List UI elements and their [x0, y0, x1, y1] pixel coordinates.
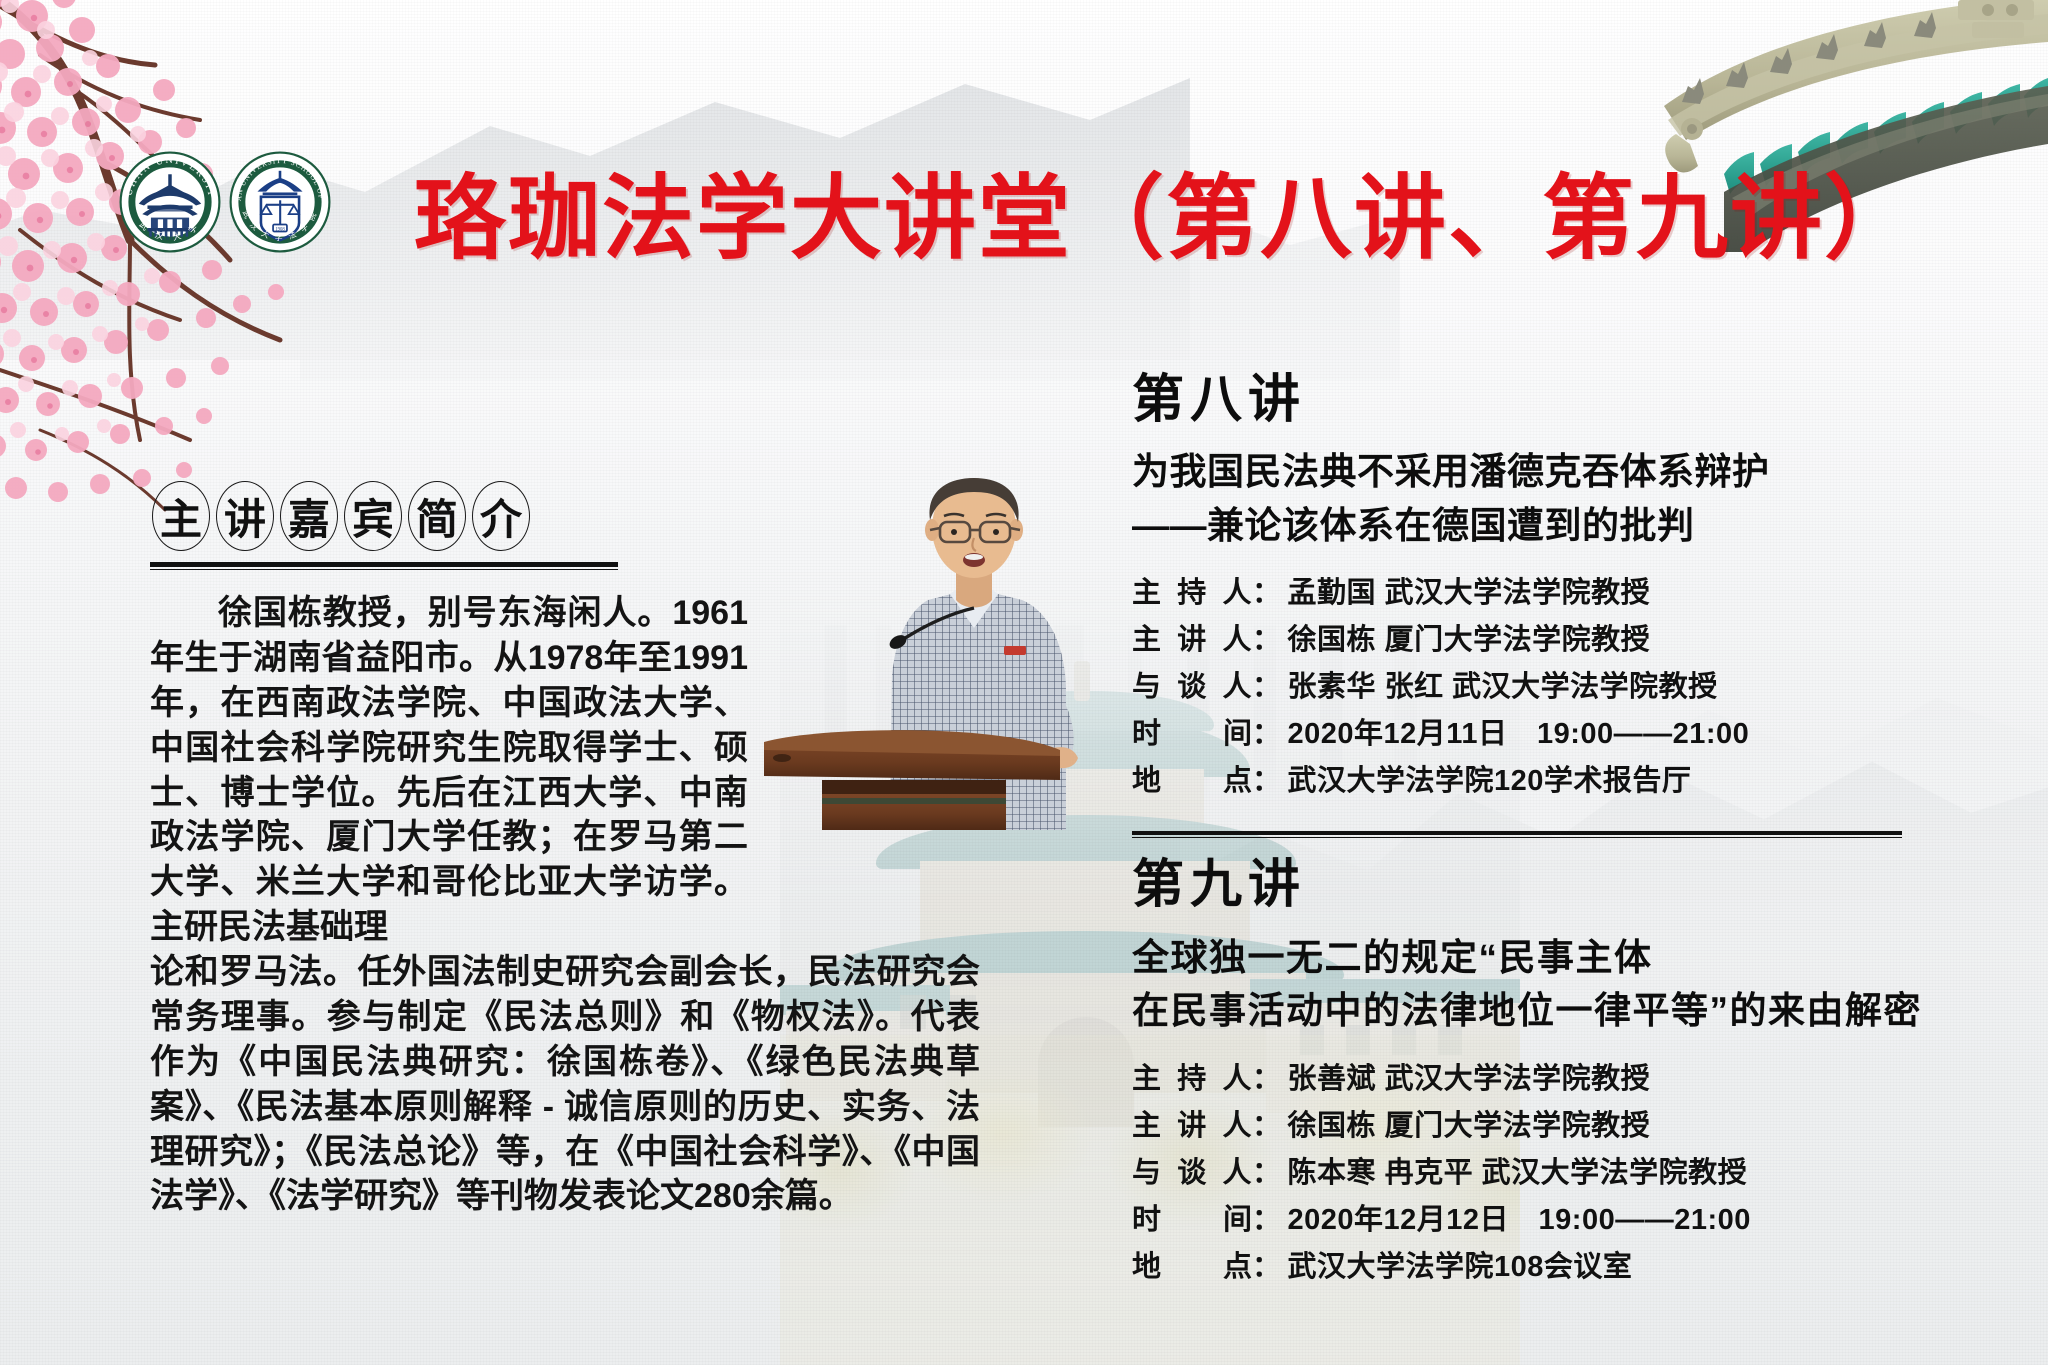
- meta-colon: ：: [1252, 570, 1282, 617]
- speaker-bio: 徐国栋教授，别号东海闲人。1961年生于湖南省益阳市。从1978年至1991年，…: [150, 591, 980, 1219]
- meta-label: 时间: [1132, 711, 1252, 758]
- meta-value: 武汉大学法学院120学术报告厅: [1288, 758, 1692, 805]
- meta-colon: ：: [1252, 1056, 1282, 1103]
- meta-label: 地点: [1132, 758, 1252, 805]
- meta-label: 主讲人: [1132, 617, 1252, 664]
- meta-label: 主讲人: [1132, 1103, 1252, 1150]
- lecture-9-details: 主持人：张善斌 武汉大学法学院教授主讲人：徐国栋 厦门大学法学院教授与谈人：陈本…: [1132, 1056, 1992, 1291]
- lecture-9-title-line1: 全球独一无二的规定“民事主体: [1132, 937, 1653, 978]
- speaker-intro-heading: 主讲嘉宾简介: [150, 480, 980, 554]
- meta-label: 时间: [1132, 1197, 1252, 1244]
- meta-row: 主讲人：徐国栋 厦门大学法学院教授: [1132, 617, 1992, 664]
- lecture-9-title: 全球独一无二的规定“民事主体 在民事活动中的法律地位一律平等”的来由解密: [1132, 931, 1992, 1038]
- lecture-8-details: 主持人：孟勤国 武汉大学法学院教授主讲人：徐国栋 厦门大学法学院教授与谈人：张素…: [1132, 570, 1992, 805]
- svg-text:1908: 1908: [275, 228, 285, 233]
- lectures-section: 第八讲 为我国民法典不采用潘德克吞体系辩护 ——兼论该体系在德国遭到的批判 主持…: [1132, 372, 1992, 1291]
- cherry-blossom-decoration: [0, 0, 320, 530]
- meta-row: 主讲人：徐国栋 厦门大学法学院教授: [1132, 1103, 1992, 1150]
- meta-value: 陈本寒 冉克平 武汉大学法学院教授: [1288, 1150, 1748, 1197]
- wuhan-university-logo: WUHAN UNIVERSITY: [118, 150, 222, 254]
- meta-value: 2020年12月11日 19:00——21:00: [1288, 711, 1750, 758]
- meta-row: 与谈人：张素华 张红 武汉大学法学院教授: [1132, 664, 1992, 711]
- poster-canvas: WUHAN UNIVERSITY: [0, 0, 2048, 1365]
- lecture-8-number: 第八讲: [1132, 372, 1992, 429]
- meta-label: 主持人: [1132, 570, 1252, 617]
- meta-value: 武汉大学法学院108会议室: [1288, 1244, 1633, 1291]
- meta-colon: ：: [1252, 1103, 1282, 1150]
- meta-row: 与谈人：陈本寒 冉克平 武汉大学法学院教授: [1132, 1150, 1992, 1197]
- lecture-divider: [1132, 831, 1902, 835]
- lecture-8-title: 为我国民法典不采用潘德克吞体系辩护 ——兼论该体系在德国遭到的批判: [1132, 445, 1992, 552]
- meta-label: 主持人: [1132, 1056, 1252, 1103]
- meta-colon: ：: [1252, 617, 1282, 664]
- meta-label: 地点: [1132, 1244, 1252, 1291]
- meta-value: 孟勤国 武汉大学法学院教授: [1288, 570, 1651, 617]
- heading-char-1: 讲: [214, 480, 276, 552]
- meta-colon: ：: [1252, 758, 1282, 805]
- heading-char-5: 介: [470, 480, 532, 552]
- lecture-9-number: 第九讲: [1132, 857, 1992, 914]
- meta-value: 2020年12月12日 19:00——21:00: [1288, 1197, 1751, 1244]
- wuhan-university-law-school-logo: WUHAN UNIVERSITY SCHOOL OF LAW 1908 武: [228, 150, 332, 254]
- meta-colon: ：: [1252, 711, 1282, 758]
- meta-row: 时间：2020年12月12日 19:00——21:00: [1132, 1197, 1992, 1244]
- speaker-bio-part1: 徐国栋教授，别号东海闲人。1961年生于湖南省益阳市。从1978年至1991年，…: [150, 591, 748, 950]
- heading-char-4: 简: [406, 480, 468, 552]
- meta-row: 地点：武汉大学法学院108会议室: [1132, 1244, 1992, 1291]
- meta-value: 徐国栋 厦门大学法学院教授: [1288, 617, 1651, 664]
- heading-divider: [150, 562, 618, 567]
- lecture-8-title-line1: 为我国民法典不采用潘德克吞体系辩护: [1132, 451, 1770, 492]
- meta-colon: ：: [1252, 664, 1282, 711]
- meta-colon: ：: [1252, 1197, 1282, 1244]
- meta-value: 徐国栋 厦门大学法学院教授: [1288, 1103, 1651, 1150]
- meta-row: 地点：武汉大学法学院120学术报告厅: [1132, 758, 1992, 805]
- speaker-bio-part2: 论和罗马法。任外国法制史研究会副会长，民法研究会常务理事。参与制定《民法总则》和…: [150, 950, 980, 1219]
- page-title: 珞珈法学大讲堂（第八讲、第九讲）: [414, 144, 1918, 277]
- lecture-9-block: 第九讲 全球独一无二的规定“民事主体 在民事活动中的法律地位一律平等”的来由解密…: [1132, 857, 1992, 1290]
- lecture-9-title-line2: 在民事活动中的法律地位一律平等”的来由解密: [1132, 984, 1992, 1038]
- poster-header: WUHAN UNIVERSITY: [0, 150, 2048, 260]
- meta-value: 张善斌 武汉大学法学院教授: [1288, 1056, 1651, 1103]
- meta-colon: ：: [1252, 1244, 1282, 1291]
- heading-char-2: 嘉: [278, 480, 340, 552]
- speaker-intro-section: 主讲嘉宾简介 徐国栋教授，别号东海闲人。1961年生于湖南省益阳市。从1978年…: [150, 480, 980, 1219]
- meta-colon: ：: [1252, 1150, 1282, 1197]
- meta-row: 时间：2020年12月11日 19:00——21:00: [1132, 711, 1992, 758]
- heading-char-0: 主: [150, 480, 212, 552]
- meta-value: 张素华 张红 武汉大学法学院教授: [1288, 664, 1718, 711]
- lecture-8-title-line2: ——兼论该体系在德国遭到的批判: [1132, 499, 1992, 553]
- heading-char-3: 宾: [342, 480, 404, 552]
- meta-label: 与谈人: [1132, 664, 1252, 711]
- meta-row: 主持人：孟勤国 武汉大学法学院教授: [1132, 570, 1992, 617]
- lecture-8-block: 第八讲 为我国民法典不采用潘德克吞体系辩护 ——兼论该体系在德国遭到的批判 主持…: [1132, 372, 1992, 805]
- meta-label: 与谈人: [1132, 1150, 1252, 1197]
- meta-row: 主持人：张善斌 武汉大学法学院教授: [1132, 1056, 1992, 1103]
